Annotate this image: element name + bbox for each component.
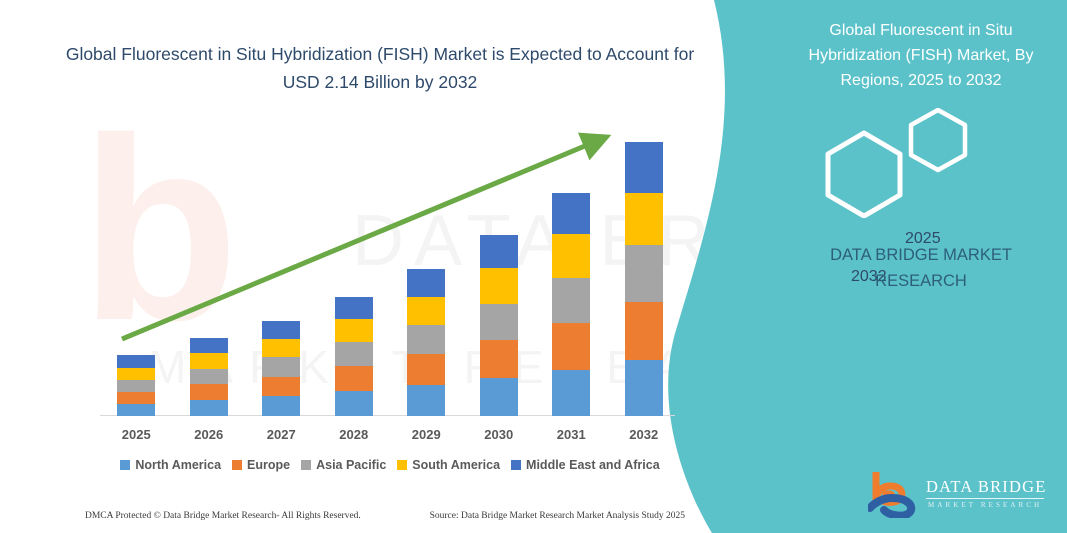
bar-column-2028 xyxy=(323,120,385,416)
bar-segment xyxy=(262,339,300,357)
bar-segment xyxy=(407,354,445,384)
bar-segment xyxy=(190,400,228,416)
bar-segment xyxy=(625,245,663,302)
bar-column-2025 xyxy=(105,120,167,416)
right-panel-brand: DATA BRIDGE MARKET RESEARCH xyxy=(790,242,1052,294)
bar-column-2032 xyxy=(613,120,675,416)
page-title: Global Fluorescent in Situ Hybridization… xyxy=(60,40,700,96)
stacked-bar xyxy=(552,193,590,416)
bar-segment xyxy=(625,302,663,361)
bar-segment xyxy=(335,366,373,390)
x-axis-label-2028: 2028 xyxy=(323,427,385,449)
stacked-bar xyxy=(117,355,155,416)
footer-source: Source: Data Bridge Market Research Mark… xyxy=(430,511,685,521)
bar-segment xyxy=(552,323,590,370)
bar-segment xyxy=(625,360,663,416)
bar-segment xyxy=(190,353,228,368)
bar-column-2031 xyxy=(540,120,602,416)
logo-divider xyxy=(926,498,1044,499)
legend-item[interactable]: North America xyxy=(120,458,221,472)
bar-segment xyxy=(480,268,518,303)
x-axis-label-2032: 2032 xyxy=(613,427,675,449)
bar-column-2030 xyxy=(468,120,530,416)
brand-line-2: RESEARCH xyxy=(790,268,1052,294)
x-axis-labels: 20252026202720282029203020312032 xyxy=(100,427,680,449)
bar-segment xyxy=(335,391,373,416)
brand-line-1: DATA BRIDGE MARKET xyxy=(790,242,1052,268)
bar-segment xyxy=(625,142,663,193)
hexagon-group: 2025 2032 xyxy=(810,108,1010,218)
x-axis-label-2029: 2029 xyxy=(395,427,457,449)
legend-item[interactable]: Europe xyxy=(232,458,290,472)
legend-label: Middle East and Africa xyxy=(526,458,660,472)
bar-segment xyxy=(117,404,155,416)
bar-column-2027 xyxy=(250,120,312,416)
bar-segment xyxy=(335,342,373,366)
bar-segment xyxy=(117,368,155,380)
bar-segment xyxy=(335,297,373,319)
bar-segment xyxy=(625,193,663,246)
bar-segment xyxy=(262,321,300,339)
logo-text-sub: MARKET RESEARCH xyxy=(928,501,1042,509)
logo-blue-mark xyxy=(870,498,911,516)
stacked-bar xyxy=(407,269,445,416)
x-axis-label-2027: 2027 xyxy=(250,427,312,449)
logo-mark-icon xyxy=(868,472,924,518)
infographic-canvas: b DATA BRIDGE MARKET RESEARCH Global Flu… xyxy=(0,0,1067,533)
bar-segment xyxy=(190,369,228,384)
legend-item[interactable]: Asia Pacific xyxy=(301,458,386,472)
bar-segment xyxy=(117,392,155,404)
x-axis-label-2026: 2026 xyxy=(178,427,240,449)
hexagon-2025-shape xyxy=(911,110,965,170)
x-axis-label-2025: 2025 xyxy=(105,427,167,449)
bar-segment xyxy=(335,319,373,342)
stacked-bar xyxy=(335,297,373,416)
footer-copyright: DMCA Protected © Data Bridge Market Rese… xyxy=(85,511,361,521)
bar-segment xyxy=(262,377,300,396)
legend-label: Europe xyxy=(247,458,290,472)
legend-swatch-icon xyxy=(120,460,130,470)
legend-item[interactable]: South America xyxy=(397,458,500,472)
legend-swatch-icon xyxy=(232,460,242,470)
bar-column-2029 xyxy=(395,120,457,416)
bar-segment xyxy=(552,370,590,417)
bar-segment xyxy=(480,304,518,340)
bar-segment xyxy=(480,340,518,377)
legend-swatch-icon xyxy=(301,460,311,470)
bar-segment xyxy=(480,235,518,268)
legend-label: Asia Pacific xyxy=(316,458,386,472)
company-logo: DATA BRIDGE MARKET RESEARCH xyxy=(868,472,1048,520)
bar-column-2026 xyxy=(178,120,240,416)
legend-swatch-icon xyxy=(397,460,407,470)
legend-label: North America xyxy=(135,458,221,472)
bar-segment xyxy=(407,269,445,296)
stacked-bar xyxy=(262,321,300,416)
hexagon-2032-shape xyxy=(828,133,900,216)
x-axis-label-2030: 2030 xyxy=(468,427,530,449)
bar-segment xyxy=(117,355,155,367)
stacked-bar xyxy=(190,338,228,416)
chart-legend: North AmericaEuropeAsia PacificSouth Ame… xyxy=(100,458,680,472)
logo-text-main: DATA BRIDGE xyxy=(926,477,1047,497)
bar-segment xyxy=(407,325,445,354)
bar-segment xyxy=(407,297,445,325)
bar-segment xyxy=(262,396,300,416)
bar-segment xyxy=(190,384,228,400)
bar-segment xyxy=(190,338,228,353)
right-panel-title: Global Fluorescent in Situ Hybridization… xyxy=(790,18,1052,93)
bar-segment xyxy=(552,234,590,277)
bar-segment xyxy=(552,193,590,234)
bar-segment xyxy=(407,385,445,416)
stacked-bar xyxy=(625,142,663,416)
x-axis-label-2031: 2031 xyxy=(540,427,602,449)
bar-segment xyxy=(117,380,155,392)
legend-label: South America xyxy=(412,458,500,472)
legend-swatch-icon xyxy=(511,460,521,470)
bar-segment xyxy=(552,278,590,323)
footer: DMCA Protected © Data Bridge Market Rese… xyxy=(85,506,685,526)
stacked-bar xyxy=(480,235,518,416)
stacked-bar-group xyxy=(100,120,680,416)
bar-segment xyxy=(262,357,300,376)
legend-item[interactable]: Middle East and Africa xyxy=(511,458,660,472)
bar-segment xyxy=(480,378,518,416)
